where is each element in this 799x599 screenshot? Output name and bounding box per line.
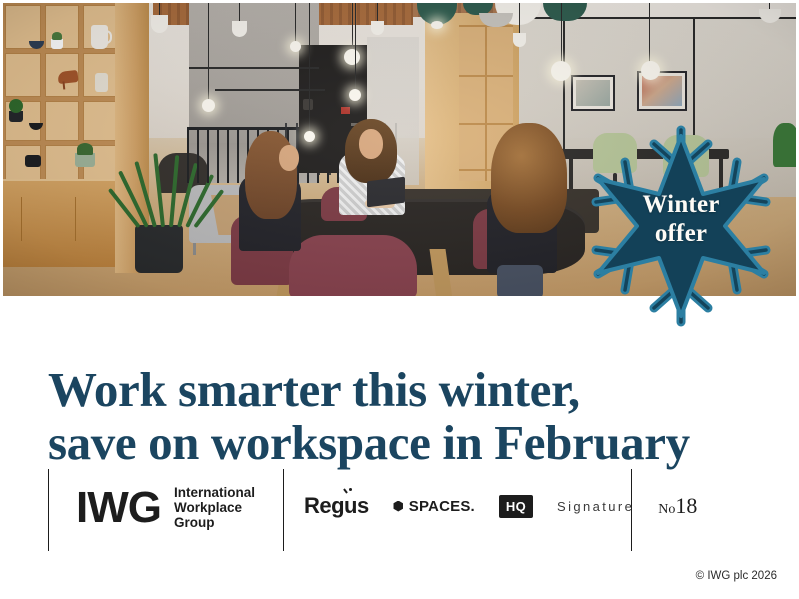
page-title: Work smarter this winter, save on worksp… <box>48 363 768 469</box>
badge-text: Winter offer <box>570 190 792 248</box>
iwg-full-name: International Workplace Group <box>174 485 255 530</box>
badge-line-2: offer <box>570 219 792 248</box>
winter-offer-ad: Winter offer Work smarter this winter, s… <box>0 0 799 599</box>
spaces-logo[interactable]: SPACES. <box>393 498 475 515</box>
spaces-label: SPACES. <box>409 498 475 515</box>
no18-prefix: No <box>658 502 675 517</box>
iwg-logo[interactable]: IWG International Workplace Group <box>76 485 255 530</box>
headline-line-2: save on workspace in February <box>48 416 768 469</box>
iwg-name-line-1: International <box>174 485 255 500</box>
iwg-name-line-3: Group <box>174 515 255 530</box>
divider-middle <box>283 469 284 551</box>
regus-logo[interactable]: Regus <box>304 493 369 519</box>
brand-logo-row: IWG International Workplace Group Regus … <box>48 469 634 551</box>
regus-label: Regus <box>304 493 369 518</box>
iwg-name-line-2: Workplace <box>174 500 255 515</box>
hq-logo[interactable]: HQ <box>499 495 533 518</box>
signature-logo[interactable]: Signature <box>557 499 634 514</box>
badge-line-1: Winter <box>570 190 792 219</box>
iwg-wordmark: IWG <box>76 486 161 530</box>
regus-tick-icon <box>343 488 350 495</box>
copyright-notice: © IWG plc 2026 <box>696 570 777 582</box>
headline-line-1: Work smarter this winter, <box>48 362 580 417</box>
sub-brand-logos: Regus SPACES. HQ Signature No18 <box>304 493 697 519</box>
winter-offer-badge[interactable]: Winter offer <box>570 128 792 324</box>
spaces-hexagon-icon <box>393 501 404 512</box>
no18-logo[interactable]: No18 <box>658 493 697 519</box>
divider-left <box>48 469 49 551</box>
no18-number: 18 <box>675 493 697 518</box>
